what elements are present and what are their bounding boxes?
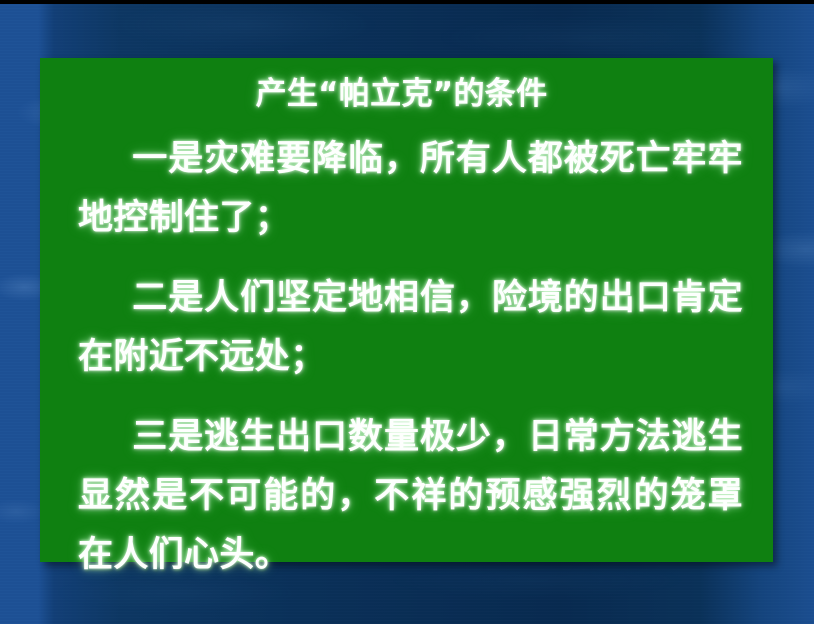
body-paragraph-3: 三是逃生出口数量极少，日常方法逃生显然是不可能的，不祥的预感强烈的笼罩在人们心头…: [78, 408, 743, 585]
presentation-slide: 产生“帕立克”的条件 一是灾难要降临，所有人都被死亡牢牢地控制住了； 二是人们坚…: [0, 0, 814, 624]
body-paragraph-2: 二是人们坚定地相信，险境的出口肯定在附近不远处；: [78, 269, 743, 387]
slide-body: 一是灾难要降临，所有人都被死亡牢牢地控制住了； 二是人们坚定地相信，险境的出口肯…: [78, 130, 743, 585]
green-content-panel: 产生“帕立克”的条件 一是灾难要降临，所有人都被死亡牢牢地控制住了； 二是人们坚…: [40, 58, 773, 562]
body-paragraph-1: 一是灾难要降临，所有人都被死亡牢牢地控制住了；: [78, 130, 743, 248]
top-black-bar: [0, 0, 814, 4]
slide-title: 产生“帕立克”的条件: [40, 74, 773, 114]
